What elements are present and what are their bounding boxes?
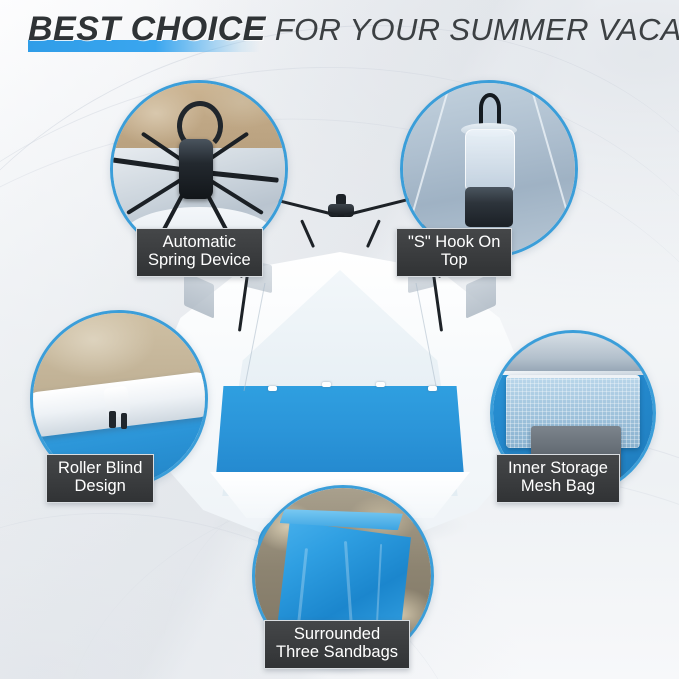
callout-label-roller: Roller Blind Design [46, 454, 154, 503]
label-line-2: Design [58, 478, 142, 496]
page-title: BEST CHOICEFOR YOUR SUMMER VACATION [28, 10, 679, 49]
title-bold-part: BEST CHOICE [28, 10, 266, 48]
tent-side-panel [466, 271, 496, 318]
label-line-2: Mesh Bag [508, 478, 608, 496]
tent-side-panel [184, 271, 214, 318]
tent-clip [268, 386, 277, 391]
label-line-2: Spring Device [148, 252, 251, 270]
label-line-2: Top [408, 252, 500, 270]
label-line-1: "S" Hook On [408, 234, 500, 252]
spring-hub-body [179, 139, 213, 199]
lantern-base [465, 187, 513, 227]
header-banner: BEST CHOICEFOR YOUR SUMMER VACATION [0, 0, 679, 62]
label-line-1: Roller Blind [58, 460, 142, 478]
toggle-fastener [121, 413, 127, 429]
tent-pole [366, 219, 381, 248]
tent-clip [376, 382, 385, 387]
tent-clip [428, 386, 437, 391]
tent-pole [300, 219, 315, 248]
callout-label-sandbag: Surrounded Three Sandbags [264, 620, 410, 669]
callout-label-hook: "S" Hook On Top [396, 228, 512, 277]
toggle-fastener [109, 411, 116, 428]
label-line-1: Automatic [148, 234, 251, 252]
label-line-1: Inner Storage [508, 460, 608, 478]
infographic-page: BEST CHOICEFOR YOUR SUMMER VACATION [0, 0, 679, 679]
tent-clip [322, 382, 331, 387]
callout-label-spring: Automatic Spring Device [136, 228, 263, 277]
tent-inner-ceiling [493, 333, 653, 375]
lantern-glass [465, 129, 515, 193]
tent-blue-band [216, 386, 464, 476]
title-light-part: FOR YOUR SUMMER VACATION [275, 12, 679, 47]
label-line-1: Surrounded [276, 626, 398, 644]
label-line-2: Three Sandbags [276, 644, 398, 662]
callout-label-mesh: Inner Storage Mesh Bag [496, 454, 620, 503]
